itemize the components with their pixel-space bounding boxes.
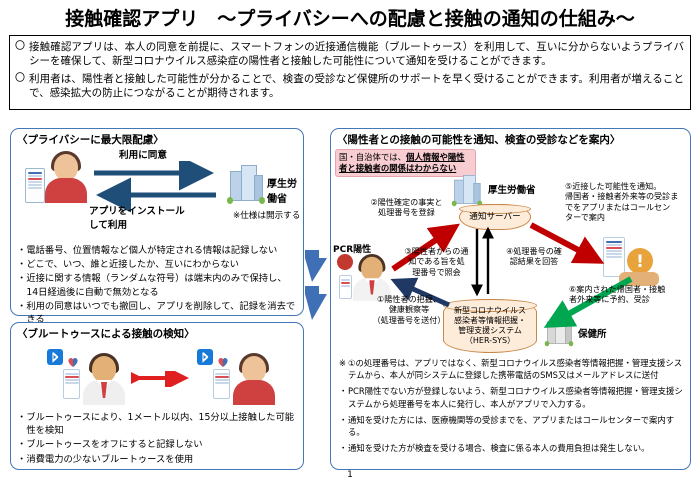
note-item: ・ 通知を受けた方には、医療機関等の受診までを、アプリまたはコールセンターで案内… <box>339 414 683 438</box>
hersys-node: 新型コロナウイルス 感染者等情報把握・ 管理支援システム （HER-SYS） <box>443 299 537 353</box>
bullet-dot-icon: ・ <box>17 244 26 257</box>
flow-label-2: ②陽性確定の事実と 処理番号を登録 <box>359 197 454 218</box>
note-mark: ※ <box>339 357 348 381</box>
slide-root: 接触確認アプリ ～プライバシーへの配慮と接触の通知の仕組み～ 〇 接触確認アプリ… <box>0 0 700 485</box>
summary-item-text: 接触確認アプリは、本人の同意を前提に、スマートフォンの近接通信機能（ブルートゥー… <box>29 40 684 69</box>
privacy-diagram: 利用に同意 アプリをインストール して利用 厚生労働省 ※仕様は開示する <box>11 147 303 242</box>
flow-label-3: ③陽性者からの通 知である旨を処 理番号で照会 <box>404 246 469 277</box>
bullet-circle-icon: 〇 <box>15 40 29 69</box>
privacy-panel-title: 〈プライバシーに最大限配慮〉 <box>17 132 303 147</box>
summary-box: 〇 接触確認アプリは、本人の同意を前提に、スマートフォンの近接通信機能（ブルート… <box>9 35 691 110</box>
list-item: ・ ブルートゥースにより、1メートル以内、15分以上接触した可能性を検知 <box>17 411 297 437</box>
note-mark: ・ <box>339 442 348 454</box>
note-mark: ・ <box>339 414 348 438</box>
flow-label-6: ⑥案内された帰国者・接触 者外来等に予約、受診 <box>569 284 687 305</box>
list-item-text: 近接に関する情報（ランダムな符号）は端末内のみで保持し、14日経過後に自動で無効… <box>26 272 297 298</box>
user-with-phone <box>25 151 87 203</box>
privacy-bullet-list: ・ 電話番号、位置情報など個人が特定される情報は記録しない ・ どこで、いつ、誰… <box>17 244 297 326</box>
bluetooth-diagram <box>11 341 303 409</box>
flow-label-1: ①陽性者の把握、 健康観察等 （処理番号を送付） <box>359 294 459 325</box>
note-item: ・ 通知を受けた方が検査を受ける場合、検査に係る本人の費用負担は発生しない。 <box>339 442 683 454</box>
avatar <box>233 353 275 405</box>
note-item: ・ PCR陽性でない方が登録しないよう、新型コロナウイルス感染者等情報把握・管理… <box>339 385 683 409</box>
list-item-text: 消費電力の少ないブルートゥースを使用 <box>26 453 297 466</box>
flow-label-4: ④処理番号の確 認結果を回答 <box>503 246 565 267</box>
arrow-label-consent: 利用に同意 <box>119 147 167 161</box>
note-item: ※ ①の処理番号は、アプリではなく、新型コロナウイルス感染者等情報把握・管理支援… <box>339 357 683 381</box>
list-item-text: ブルートゥースにより、1メートル以内、15分以上接触した可能性を検知 <box>26 411 297 437</box>
note-text: 通知を受けた方が検査を受ける場合、検査に係る本人の費用負担は発生しない。 <box>348 442 683 454</box>
smartphone-icon <box>25 168 45 203</box>
bluetooth-icon <box>197 349 213 369</box>
bluetooth-icon <box>47 349 63 369</box>
bullet-circle-icon: 〇 <box>15 72 29 101</box>
bullet-dot-icon: ・ <box>17 411 26 437</box>
bullet-dot-icon: ・ <box>17 438 26 451</box>
list-item-text: どこで、いつ、誰と近接したか、互いにわからない <box>26 258 297 271</box>
note-mark: ・ <box>339 385 348 409</box>
bluetooth-panel: 〈ブルートゥースによる接触の検知〉 <box>10 322 304 470</box>
note-text: 通知を受けた方には、医療機関等の受診までを、アプリまたはコールセンターで案内する… <box>348 414 683 438</box>
avatar <box>83 353 125 405</box>
notification-server-label: 通知サーバー <box>467 212 522 222</box>
privacy-panel: 〈プライバシーに最大限配慮〉 <box>10 128 304 316</box>
contact-arrow <box>131 371 193 387</box>
arrow-label-install: アプリをインストール して利用 <box>89 203 185 231</box>
bullet-dot-icon: ・ <box>17 258 26 271</box>
summary-item: 〇 利用者は、陽性者と接触した可能性が分かることで、検査の受診など保健所のサポー… <box>15 72 684 101</box>
avatar <box>45 151 87 203</box>
connector-arrow <box>303 250 329 342</box>
bullet-dot-icon: ・ <box>17 272 26 298</box>
smartphone-icon <box>213 369 230 399</box>
flow-label-5: ⑤近接した可能性を通知。 帰国者・接触者外来等の受診ま でをアプリまたはコールセ… <box>565 181 689 222</box>
note-text: PCR陽性でない方が登録しないよう、新型コロナウイルス感染者等情報把握・管理支援… <box>348 385 683 409</box>
smartphone-icon <box>63 369 80 399</box>
list-item: ・ 消費電力の少ないブルートゥースを使用 <box>17 453 297 466</box>
spec-disclosure-note: ※仕様は開示する <box>233 209 300 221</box>
page-title: 接触確認アプリ ～プライバシーへの配慮と接触の通知の仕組み～ <box>0 4 700 31</box>
ministry-label: 厚生労働省 <box>267 175 303 205</box>
summary-item-text: 利用者は、陽性者と接触した可能性が分かることで、検査の受診など保健所のサポートを… <box>29 72 684 101</box>
list-item: ・ 近接に関する情報（ランダムな符号）は端末内のみで保持し、14日経過後に自動で… <box>17 272 297 298</box>
note-text: ①の処理番号は、アプリではなく、新型コロナウイルス感染者等情報把握・管理支援シス… <box>348 357 683 381</box>
bullet-dot-icon: ・ <box>17 453 26 466</box>
hersys-label: 新型コロナウイルス 感染者等情報把握・ 管理支援システム （HER-SYS） <box>452 306 528 346</box>
notes-block: ※ ①の処理番号は、アプリではなく、新型コロナウイルス感染者等情報把握・管理支援… <box>339 357 683 458</box>
list-item-text: 電話番号、位置情報など個人が特定される情報は記録しない <box>26 244 297 257</box>
list-item: ・ 電話番号、位置情報など個人が特定される情報は記録しない <box>17 244 297 257</box>
ministry-building-icon <box>226 165 266 203</box>
page-number: 1 <box>0 470 700 480</box>
notify-panel: 〈陽性者との接触の可能性を通知、検査の受診などを案内〉 国・自治体では、個人情報… <box>330 128 691 470</box>
summary-item: 〇 接触確認アプリは、本人の同意を前提に、スマートフォンの近接通信機能（ブルート… <box>15 40 684 69</box>
bluetooth-bullet-list: ・ ブルートゥースにより、1メートル以内、15分以上接触した可能性を検知 ・ ブ… <box>17 411 297 466</box>
list-item-text: ブルートゥースをオフにすると記録しない <box>26 438 297 451</box>
list-item: ・ ブルートゥースをオフにすると記録しない <box>17 438 297 451</box>
list-item: ・ どこで、いつ、誰と近接したか、互いにわからない <box>17 258 297 271</box>
bluetooth-panel-title: 〈ブルートゥースによる接触の検知〉 <box>17 326 303 341</box>
